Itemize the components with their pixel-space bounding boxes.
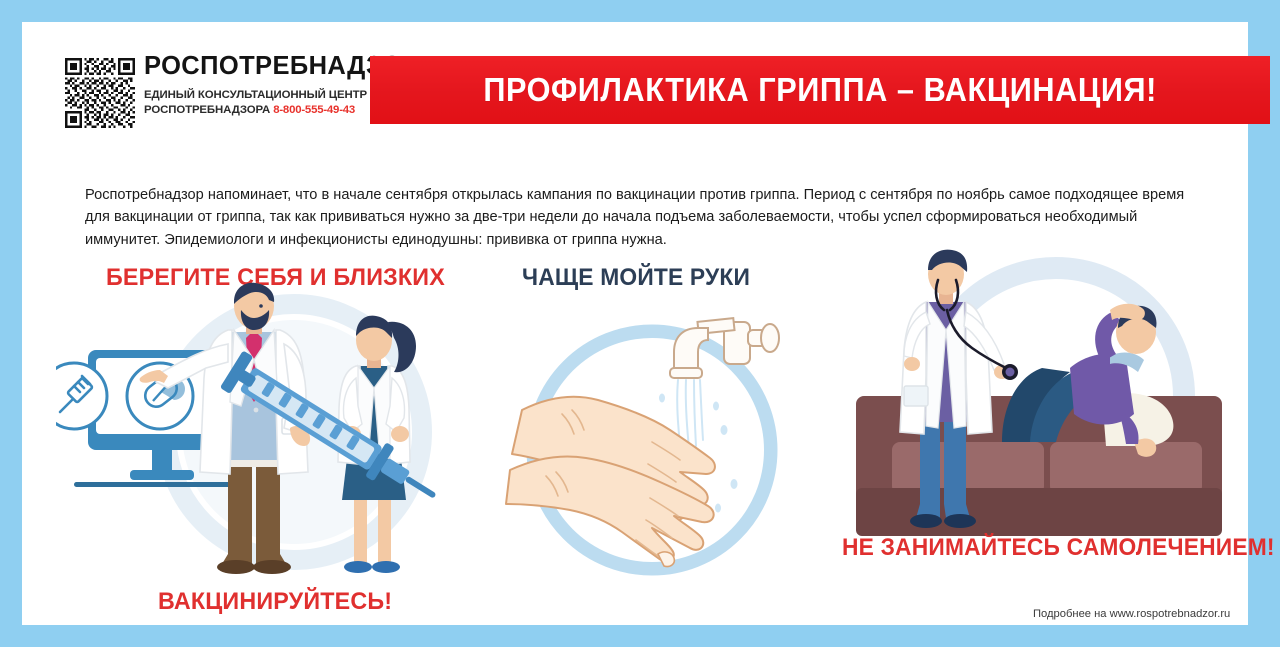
panel-no-self-treatment: НЕ ЗАНИМАЙТЕСЬ САМОЛЕЧЕНИЕМ! bbox=[834, 244, 1248, 629]
panel-vaccination: БЕРЕГИТЕ СЕБЯ И БЛИЗКИХ bbox=[62, 244, 482, 629]
footer-note: Подробнее на www.rospotrebnadzor.ru bbox=[1033, 608, 1230, 620]
panel-no-self-treatment-caption: НЕ ЗАНИМАЙТЕСЬ САМОЛЕЧЕНИЕМ! bbox=[842, 534, 1275, 562]
brand-subtitle: ЕДИНЫЙ КОНСУЛЬТАЦИОННЫЙ ЦЕНТР РОСПОТРЕБН… bbox=[144, 88, 376, 118]
brand-name: РОСПОТРЕБНАДЗОР bbox=[144, 54, 376, 80]
intro-paragraph: Роспотребнадзор напоминает, что в начале… bbox=[85, 184, 1207, 252]
panel-vaccination-caption-bottom: ВАКЦИНИРУЙТЕСЬ! bbox=[158, 588, 392, 616]
brand-subtitle-line2-row: РОСПОТРЕБНАДЗОРА 8-800-555-49-43 bbox=[144, 103, 376, 118]
brand-subtitle-line1: ЕДИНЫЙ КОНСУЛЬТАЦИОННЫЙ ЦЕНТР bbox=[144, 88, 376, 103]
panel-handwashing-caption: ЧАЩЕ МОЙТЕ РУКИ bbox=[522, 264, 750, 292]
brand-subtitle-line2: РОСПОТРЕБНАДЗОРА bbox=[144, 104, 270, 116]
qr-code-icon bbox=[65, 58, 135, 128]
panels-row: БЕРЕГИТЕ СЕБЯ И БЛИЗКИХ bbox=[44, 244, 1248, 629]
doctors-with-syringe-illustration bbox=[56, 282, 476, 582]
poster-header: РОСПОТРЕБНАДЗОР ЕДИНЫЙ КОНСУЛЬТАЦИОННЫЙ … bbox=[32, 50, 1238, 138]
banner-title: ПРОФИЛАКТИКА ГРИППА – ВАКЦИНАЦИЯ! bbox=[483, 71, 1157, 109]
brand-block: РОСПОТРЕБНАДЗОР ЕДИНЫЙ КОНСУЛЬТАЦИОННЫЙ … bbox=[144, 54, 376, 118]
poster-card: РОСПОТРЕБНАДЗОР ЕДИНЫЙ КОНСУЛЬТАЦИОННЫЙ … bbox=[22, 22, 1248, 625]
poster-root: РОСПОТРЕБНАДЗОР ЕДИНЫЙ КОНСУЛЬТАЦИОННЫЙ … bbox=[0, 0, 1280, 647]
title-banner: ПРОФИЛАКТИКА ГРИППА – ВАКЦИНАЦИЯ! bbox=[370, 56, 1270, 124]
handwashing-illustration bbox=[502, 302, 802, 602]
panel-handwashing: ЧАЩЕ МОЙТЕ РУКИ bbox=[502, 244, 802, 629]
hotline-phone[interactable]: 8-800-555-49-43 bbox=[273, 104, 355, 116]
doctor-examining-patient-illustration bbox=[834, 246, 1248, 536]
